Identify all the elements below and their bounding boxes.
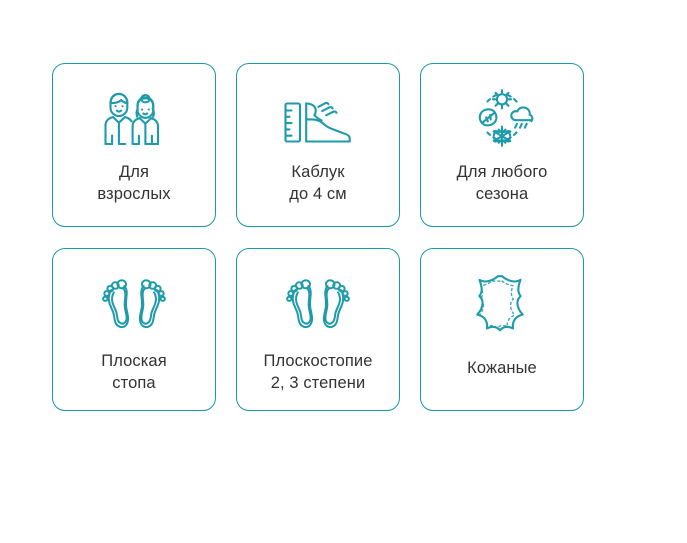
- feature-grid: Для взрослых Каблук до 4 см: [52, 63, 584, 411]
- feature-card-label: Каблук до 4 см: [240, 161, 396, 205]
- feature-card-for-adults[interactable]: Для взрослых: [52, 63, 216, 227]
- footprints-icon: [97, 271, 171, 337]
- ruler-shoe-icon: [281, 86, 355, 150]
- four-seasons-icon: [465, 86, 539, 150]
- leather-hide-icon: [465, 271, 539, 337]
- feature-card-label: Плоскостопие 2, 3 степени: [240, 350, 396, 394]
- feature-card-label: Кожаные: [424, 357, 580, 379]
- footprints-icon: [281, 271, 355, 337]
- feature-card-any-season[interactable]: Для любого сезона: [420, 63, 584, 227]
- feature-card-label: Для любого сезона: [424, 161, 580, 205]
- feature-card-flat-foot[interactable]: Плоская стопа: [52, 248, 216, 411]
- feature-card-heel-height[interactable]: Каблук до 4 см: [236, 63, 400, 227]
- feature-card-flatfoot-degree[interactable]: Плоскостопие 2, 3 степени: [236, 248, 400, 411]
- feature-card-label: Для взрослых: [56, 161, 212, 205]
- feature-card-leather[interactable]: Кожаные: [420, 248, 584, 411]
- feature-card-label: Плоская стопа: [56, 350, 212, 394]
- couple-icon: [97, 86, 171, 150]
